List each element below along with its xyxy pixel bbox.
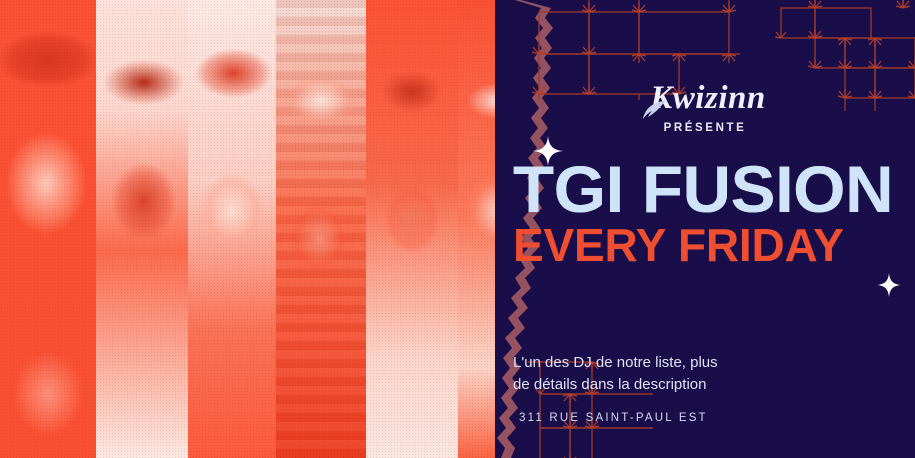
tagline-line-2: de détails dans la description — [513, 374, 915, 396]
flyer-content: Kwizinn PRÉSENTE TGI FUSION EVERY FRIDAY… — [495, 0, 915, 458]
venue-address: 311 RUE SAINT-PAUL EST — [513, 412, 915, 424]
footer-block: L'un des DJ de notre liste, plus de déta… — [513, 352, 915, 424]
leaf-icon — [642, 100, 668, 120]
photo-panel-dj-portrait-5 — [366, 0, 458, 458]
photo-panel-dj-portrait-2 — [96, 0, 188, 458]
tagline-line-1: L'un des DJ de notre liste, plus — [513, 352, 915, 374]
event-subtitle: EVERY FRIDAY — [513, 222, 915, 268]
duotone-overlay — [0, 0, 96, 458]
presents-label: PRÉSENTE — [495, 122, 915, 134]
duotone-overlay — [366, 0, 458, 458]
photo-collage — [0, 0, 545, 458]
brand-lockup: Kwizinn PRÉSENTE — [495, 82, 915, 134]
photo-panel-dj-portrait-4 — [276, 0, 366, 458]
duotone-overlay — [276, 0, 366, 458]
photo-panel-dj-portrait-1 — [0, 0, 96, 458]
event-flyer: Kwizinn PRÉSENTE TGI FUSION EVERY FRIDAY… — [0, 0, 915, 458]
duotone-overlay — [96, 0, 188, 458]
duotone-overlay — [188, 0, 276, 458]
event-title: TGI FUSION — [513, 160, 915, 218]
brand-logo-text: Kwizinn — [644, 82, 765, 115]
photo-panel-dj-portrait-3 — [188, 0, 276, 458]
title-block: TGI FUSION EVERY FRIDAY — [513, 160, 915, 268]
